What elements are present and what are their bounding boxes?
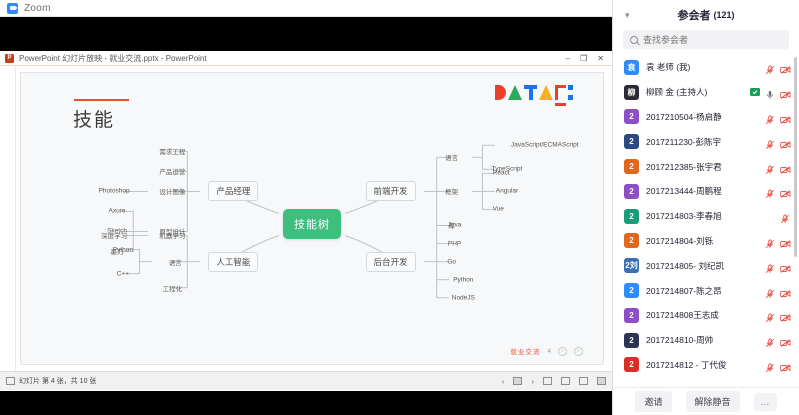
- mindmap-branch-frontend: 前端开发: [366, 181, 416, 201]
- mic-on-icon[interactable]: [765, 87, 775, 97]
- video-off-icon[interactable]: [780, 112, 790, 122]
- video-off-icon[interactable]: [780, 87, 790, 97]
- video-off-icon[interactable]: [780, 162, 790, 172]
- scrollbar-thumb[interactable]: [794, 57, 797, 257]
- screen-root: Zoom P PowerPoint 幻灯片放映 - 就业交流.pptx - Po…: [0, 0, 799, 415]
- status-left-group: 幻灯片 第 4 张，共 10 张: [6, 376, 96, 386]
- participant-row[interactable]: 22017214807-陈之昂: [613, 278, 799, 303]
- participant-name: 袁 老师 (我): [646, 61, 758, 73]
- mic-muted-icon[interactable]: [765, 310, 775, 320]
- participant-status-icons: [765, 186, 790, 196]
- participant-row[interactable]: 22017210504-杨启静: [613, 105, 799, 130]
- search-icon: [630, 36, 638, 44]
- chevron-down-icon[interactable]: ▾: [625, 10, 630, 21]
- status-next-button[interactable]: ›: [531, 377, 534, 386]
- video-off-icon[interactable]: [780, 360, 790, 370]
- powerpoint-window: P PowerPoint 幻灯片放映 - 就业交流.pptx - PowerPo…: [0, 51, 612, 391]
- mic-muted-icon[interactable]: [765, 162, 775, 172]
- scrollbar-track[interactable]: [794, 57, 797, 347]
- mic-muted-icon[interactable]: [765, 360, 775, 370]
- zoom-app-name: Zoom: [24, 3, 51, 14]
- participants-panel: ▾ 参会者 (121) 袁袁 老师 (我)柳柳顾 金 (主持人)22017210…: [612, 0, 799, 415]
- mindmap-node-engineering: 工程化: [163, 283, 183, 293]
- mic-muted-icon[interactable]: [765, 186, 775, 196]
- mindmap-node-nodejs: NodeJS: [452, 294, 475, 301]
- view-slideshow-icon[interactable]: [597, 377, 606, 385]
- unmute-all-button[interactable]: 解除静音: [686, 391, 740, 412]
- participant-name: 2017214808王志成: [646, 309, 758, 321]
- participant-name: 2017214803-李春旭: [646, 210, 773, 222]
- slide-prev-arrow-icon[interactable]: ‹: [558, 347, 567, 356]
- mic-muted-icon[interactable]: [765, 137, 775, 147]
- participant-status-icons: [765, 310, 790, 320]
- view-reading-icon[interactable]: [579, 377, 588, 385]
- participants-search-wrap: [613, 30, 799, 55]
- slide-status-text: 幻灯片 第 4 张，共 10 张: [19, 376, 96, 386]
- avatar: 2刘: [624, 258, 639, 273]
- view-sorter-icon[interactable]: [561, 377, 570, 385]
- avatar: 2: [624, 209, 639, 224]
- participant-row[interactable]: 22017211230-彭陈宇: [613, 129, 799, 154]
- window-controls: – ❐ ✕: [566, 54, 612, 63]
- powerpoint-icon: P: [5, 54, 14, 63]
- mindmap-node-php: PHP: [448, 240, 461, 247]
- slide-footer-tag: 就业交流: [510, 346, 540, 356]
- avatar: 2: [624, 233, 639, 248]
- participants-count: (121): [713, 10, 734, 20]
- participant-row[interactable]: 22017214810-周帅: [613, 328, 799, 353]
- avatar: 2: [624, 357, 639, 372]
- mindmap-node-python-ai: Python: [113, 246, 133, 253]
- participant-row[interactable]: 袁袁 老师 (我): [613, 55, 799, 80]
- participants-header: ▾ 参会者 (121): [613, 0, 799, 30]
- participant-row[interactable]: 22017212385-张宇君: [613, 154, 799, 179]
- video-off-icon[interactable]: [780, 310, 790, 320]
- mindmap-node-requirements: 需求工程: [159, 146, 185, 156]
- participant-name: 2017211230-彭陈宇: [646, 136, 758, 148]
- mindmap-node-react: React: [493, 170, 510, 177]
- mindmap-node-angular: Angular: [496, 187, 518, 194]
- mic-muted-icon[interactable]: [780, 211, 790, 221]
- slide-footer-page: 4: [547, 348, 551, 355]
- mindmap-node-design-image: 设计图像: [159, 186, 185, 196]
- participant-status-icons: [750, 87, 790, 97]
- avatar: 2: [624, 283, 639, 298]
- avatar: 袁: [624, 60, 639, 75]
- mindmap-branch-backend: 后台开发: [366, 252, 416, 272]
- mindmap-node-framework: 框架: [445, 186, 458, 196]
- mindmap-node-python-be: Python: [453, 276, 473, 283]
- avatar: 2: [624, 134, 639, 149]
- participant-status-icons: [765, 335, 790, 345]
- participants-list[interactable]: 袁袁 老师 (我)柳柳顾 金 (主持人)22017210504-杨启静22017…: [613, 55, 799, 387]
- mindmap-node-axure: Axure: [109, 207, 126, 214]
- mindmap: 技能树 产品经理 需求工程 产品运营 设计图像 Photoshop 原型设计 A…: [21, 73, 603, 364]
- participant-name: 2017210504-杨启静: [646, 111, 758, 123]
- avatar: 2: [624, 159, 639, 174]
- status-prev-button[interactable]: ‹: [502, 377, 505, 386]
- mindmap-node-java: Java: [448, 222, 462, 229]
- participant-name: 2017214805- 刘纪凯: [646, 260, 758, 272]
- video-off-icon[interactable]: [780, 236, 790, 246]
- mindmap-node-product-ops: 产品运营: [159, 166, 185, 176]
- restore-button[interactable]: ❐: [580, 54, 587, 63]
- video-off-icon[interactable]: [780, 62, 790, 72]
- zoom-titlebar: Zoom: [0, 0, 612, 17]
- mindmap-branch-ai: 人工智能: [208, 252, 258, 272]
- view-normal-icon[interactable]: [543, 377, 552, 385]
- slide-next-arrow-icon[interactable]: ›: [574, 347, 583, 356]
- mic-muted-icon[interactable]: [765, 62, 775, 72]
- avatar: 2: [624, 333, 639, 348]
- participant-status-icons: [765, 286, 790, 296]
- participant-row[interactable]: 22017213444-周鹏程: [613, 179, 799, 204]
- mic-muted-icon[interactable]: [765, 112, 775, 122]
- video-off-icon[interactable]: [780, 137, 790, 147]
- participant-row[interactable]: 22017214812 - 丁代俊: [613, 353, 799, 378]
- participant-row[interactable]: 22017214803-李春旭: [613, 204, 799, 229]
- zoom-bottom-strip: [0, 391, 612, 415]
- video-off-icon[interactable]: [780, 186, 790, 196]
- participant-name: 2017214804-刘铄: [646, 235, 758, 247]
- participant-row[interactable]: 22017214804-刘铄: [613, 229, 799, 254]
- mindmap-node-go: Go: [447, 258, 456, 265]
- mindmap-node-photoshop: Photoshop: [99, 187, 130, 194]
- participant-status-icons: [765, 236, 790, 246]
- mindmap-node-cpp: C++: [117, 270, 129, 277]
- mic-muted-icon[interactable]: [765, 236, 775, 246]
- more-options-button[interactable]: …: [754, 393, 777, 411]
- host-badge-icon: [750, 88, 760, 96]
- mic-muted-icon[interactable]: [765, 261, 775, 271]
- participant-status-icons: [765, 360, 790, 370]
- minimize-button[interactable]: –: [566, 54, 570, 63]
- mindmap-node-vue: Vue: [493, 206, 504, 213]
- slide-view-icon: [6, 377, 15, 385]
- status-current-slide-icon[interactable]: [513, 377, 522, 385]
- participant-name: 2017214807-陈之昂: [646, 285, 758, 297]
- slide-canvas: 技能: [20, 72, 604, 365]
- slide-area: 技能: [16, 66, 612, 371]
- participant-status-icons: [780, 211, 790, 221]
- powerpoint-title: PowerPoint 幻灯片放映 - 就业交流.pptx - PowerPoin…: [19, 53, 207, 64]
- mindmap-node-deep-learning: 深度学习: [101, 230, 127, 240]
- video-off-icon[interactable]: [780, 261, 790, 271]
- zoom-video-stage: [0, 17, 612, 51]
- powerpoint-titlebar: P PowerPoint 幻灯片放映 - 就业交流.pptx - PowerPo…: [0, 51, 612, 66]
- left-gutter: [0, 66, 16, 371]
- participant-status-icons: [765, 261, 790, 271]
- participant-row[interactable]: 柳柳顾 金 (主持人): [613, 80, 799, 105]
- video-off-icon[interactable]: [780, 335, 790, 345]
- powerpoint-status-bar: 幻灯片 第 4 张，共 10 张 ‹ ›: [0, 371, 612, 390]
- status-right-group: ‹ ›: [502, 377, 606, 386]
- close-button[interactable]: ✕: [597, 54, 604, 63]
- participant-name: 2017214812 - 丁代俊: [646, 359, 758, 371]
- mindmap-node-machine-learning: 机器学习: [159, 230, 185, 240]
- search-box[interactable]: [623, 30, 789, 49]
- participant-status-icons: [765, 62, 790, 72]
- mindmap-node-language-ai: 语言: [169, 257, 182, 267]
- avatar: 柳: [624, 85, 639, 100]
- mindmap-node-javascript: JavaScript/ECMAScript: [511, 142, 579, 149]
- mindmap-branch-product-manager: 产品经理: [208, 181, 258, 201]
- participant-name: 2017214810-周帅: [646, 334, 758, 346]
- participant-status-icons: [765, 137, 790, 147]
- zoom-camera-icon: [7, 3, 18, 14]
- mindmap-node-language-fe: 语言: [445, 152, 458, 162]
- video-off-icon[interactable]: [780, 286, 790, 296]
- participant-name: 柳顾 金 (主持人): [646, 86, 743, 98]
- avatar: 2: [624, 184, 639, 199]
- mic-muted-icon[interactable]: [765, 286, 775, 296]
- mic-muted-icon[interactable]: [765, 335, 775, 345]
- search-input[interactable]: [643, 35, 782, 45]
- invite-button[interactable]: 邀请: [635, 391, 671, 412]
- avatar: 2: [624, 308, 639, 323]
- participant-name: 2017213444-周鹏程: [646, 185, 758, 197]
- participant-row[interactable]: 2刘2017214805- 刘纪凯: [613, 253, 799, 278]
- participant-status-icons: [765, 112, 790, 122]
- avatar: 2: [624, 109, 639, 124]
- participant-status-icons: [765, 162, 790, 172]
- powerpoint-body: 技能: [0, 66, 612, 371]
- participant-row[interactable]: 22017214808王志成: [613, 303, 799, 328]
- participants-footer: 邀请 解除静音 …: [613, 387, 799, 415]
- participant-name: 2017212385-张宇君: [646, 161, 758, 173]
- slide-footer: 就业交流 4 ‹ ›: [510, 346, 583, 356]
- participants-title: 参会者: [677, 7, 710, 23]
- mindmap-center-node: 技能树: [283, 209, 341, 239]
